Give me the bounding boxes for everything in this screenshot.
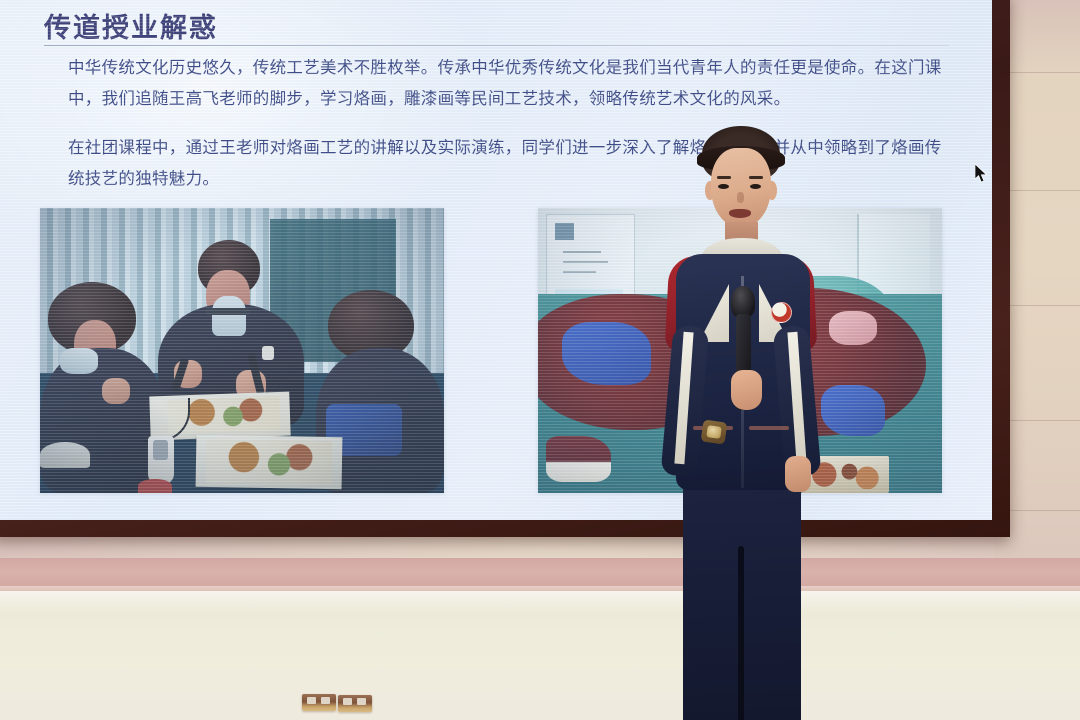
presenter-brow-right: [749, 176, 763, 179]
presenter-brow-left: [717, 176, 731, 179]
presenter-eye-right: [750, 184, 761, 189]
presenter-nose: [737, 192, 744, 203]
jacket-pocket-right: [749, 426, 789, 430]
floor-sheen: [0, 591, 1080, 613]
presenter-hand-right: [785, 456, 811, 492]
presenter-leg-gap: [738, 546, 744, 720]
auditorium-scene: 传道授业解惑 中华传统文化历史悠久，传统工艺美术不胜枚举。传承中华优秀传统文化是…: [0, 0, 1080, 720]
school-crest-badge-icon: [771, 302, 792, 323]
mouse-pointer-icon: [975, 164, 989, 183]
presenter-mouth: [729, 209, 751, 218]
title-underline: [44, 45, 949, 46]
presenter-eye-left: [718, 184, 729, 189]
projection-screen[interactable]: 传道授业解惑 中华传统文化历史悠久，传统工艺美术不胜枚举。传承中华优秀传统文化是…: [0, 0, 992, 520]
presentation-slide[interactable]: 传道授业解惑 中华传统文化历史悠久，传统工艺美术不胜枚举。传承中华优秀传统文化是…: [0, 0, 992, 520]
presenter-hand-holding-mic: [731, 370, 762, 410]
slide-image-pyrography-workshop[interactable]: [40, 208, 444, 493]
slide-title: 传道授业解惑: [44, 6, 218, 45]
projection-screen-bezel: 传道授业解惑 中华传统文化历史悠久，传统工艺美术不胜枚举。传承中华优秀传统文化是…: [0, 0, 1010, 537]
wristwatch-icon: [701, 419, 728, 444]
floor-socket-left: [302, 694, 336, 711]
presenter-figure: [645, 126, 835, 686]
slide-paragraph-1: 中华传统文化历史悠久，传统工艺美术不胜枚举。传承中华优秀传统文化是我们当代青年人…: [68, 52, 948, 114]
floor-socket-right: [338, 695, 372, 712]
